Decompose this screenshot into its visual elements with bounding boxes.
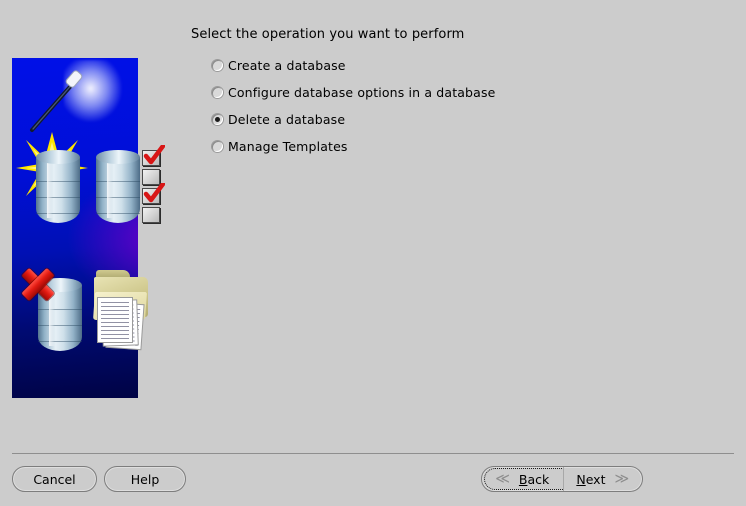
radio-label-delete-a-database: Delete a database: [228, 112, 345, 127]
magic-wand-icon: [24, 66, 96, 138]
radio-option-delete-a-database[interactable]: Delete a database: [212, 106, 632, 133]
operation-radio-group: Create a database Configure database opt…: [212, 52, 632, 160]
next-button-label: Next: [576, 472, 605, 487]
radio-option-create-a-database[interactable]: Create a database: [212, 52, 632, 79]
focus-ring: [484, 468, 564, 490]
back-button[interactable]: ≪ Back: [482, 467, 563, 491]
check-mark-icon-1: [143, 145, 165, 165]
banner-illustration: [12, 58, 138, 398]
radio-label-manage-templates: Manage Templates: [228, 139, 348, 154]
database-cylinder-2: [96, 150, 140, 230]
radio-button-create-a-database[interactable]: [212, 60, 223, 71]
radio-button-configure-database-options[interactable]: [212, 87, 223, 98]
radio-option-configure-database-options[interactable]: Configure database options in a database: [212, 79, 632, 106]
help-button[interactable]: Help: [104, 466, 186, 492]
footer-separator: [12, 453, 734, 454]
wizard-dialog: Select the operation you want to perform…: [0, 0, 746, 506]
next-button[interactable]: Next ≫: [563, 467, 643, 491]
page-title: Select the operation you want to perform: [191, 27, 464, 42]
radio-button-manage-templates[interactable]: [212, 141, 223, 152]
navigation-button-group: ≪ Back Next ≫: [481, 466, 643, 492]
delete-x-icon: [18, 264, 58, 304]
radio-label-create-a-database: Create a database: [228, 58, 346, 73]
document-icon-1: [98, 298, 132, 342]
chevron-right-icon: ≫: [614, 472, 629, 486]
checklist-icon: [142, 150, 166, 226]
cancel-button[interactable]: Cancel: [12, 466, 97, 492]
radio-option-manage-templates[interactable]: Manage Templates: [212, 133, 632, 160]
next-mnemonic: N: [576, 472, 585, 487]
check-mark-icon-2: [143, 183, 165, 203]
radio-label-configure-database-options: Configure database options in a database: [228, 85, 495, 100]
radio-button-delete-a-database[interactable]: [212, 114, 223, 125]
next-rest: ext: [586, 472, 606, 487]
database-cylinder-1: [36, 150, 80, 230]
